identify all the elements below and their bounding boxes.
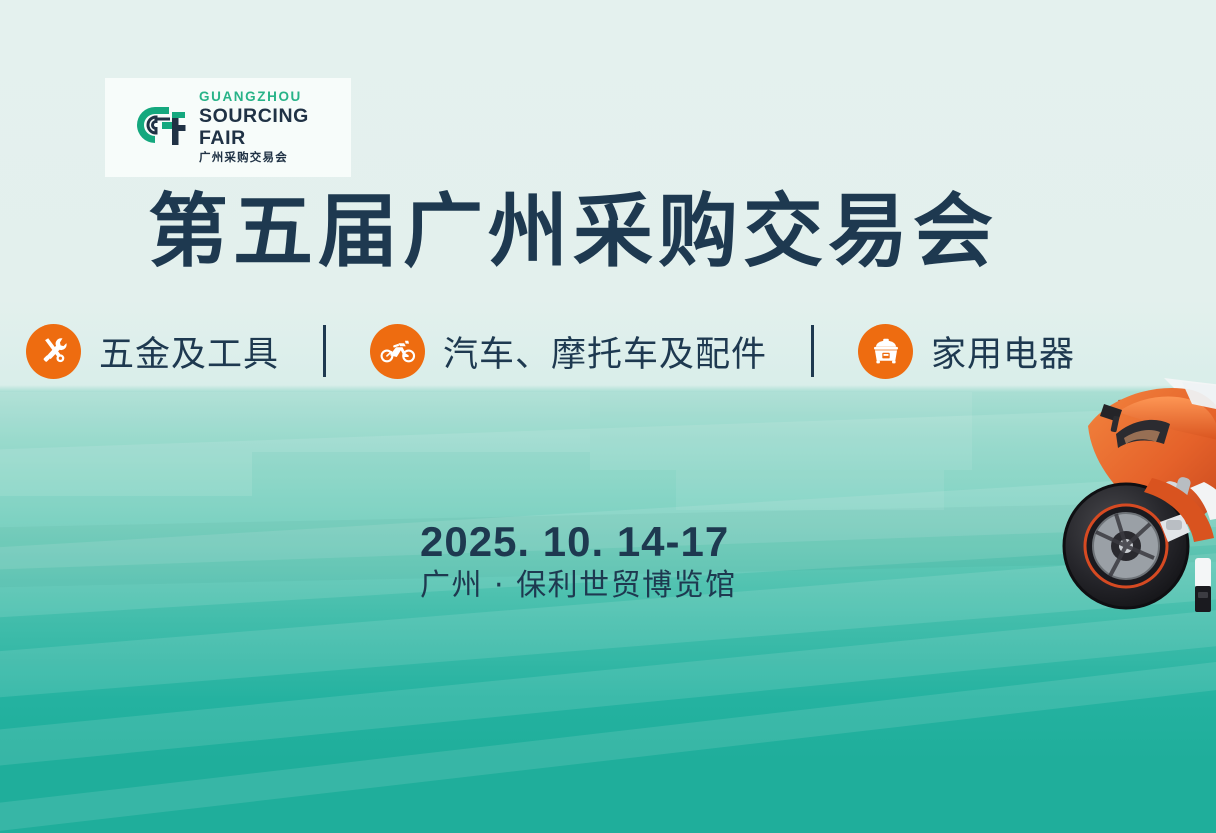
logo-guangzhou-text: GUANGZHOU [199,89,351,105]
gf-monogram-logo-icon [129,103,191,153]
category-divider [811,325,814,377]
category-label: 家用电器 [931,326,1075,377]
category-list: 五金及工具 汽车、摩托车 [26,320,1075,382]
category-label: 汽车、摩托车及配件 [443,326,767,377]
category-item-auto-motorcycle-parts[interactable]: 汽车、摩托车及配件 [370,324,767,379]
logo-chinese-text: 广州采购交易会 [199,151,351,166]
category-divider [323,325,326,377]
category-item-hardware-tools[interactable]: 五金及工具 [26,324,279,379]
event-venue: 广州 · 保利世贸博览馆 [420,567,737,605]
logo-card[interactable]: GUANGZHOU SOURCING FAIR 广州采购交易会 [105,78,351,177]
motorcycle-photo [968,360,1216,610]
category-item-home-appliances[interactable]: 家用电器 [858,324,1075,379]
motorcycle-icon [370,324,425,379]
event-details: 2025. 10. 14-17 广州 · 保利世贸博览馆 [420,518,737,605]
event-poster: GUANGZHOU SOURCING FAIR 广州采购交易会 第五届广州采购交… [0,0,1216,833]
logo-wordmark: GUANGZHOU SOURCING FAIR 广州采购交易会 [199,89,351,165]
page-title: 第五届广州采购交易会 [148,192,998,272]
logo-sourcing-fair-text: SOURCING FAIR [199,105,351,150]
category-label: 五金及工具 [99,326,279,377]
rice-cooker-icon [858,324,913,379]
tools-icon [26,324,81,379]
product-photo [1190,558,1216,620]
event-date: 2025. 10. 14-17 [420,518,737,565]
